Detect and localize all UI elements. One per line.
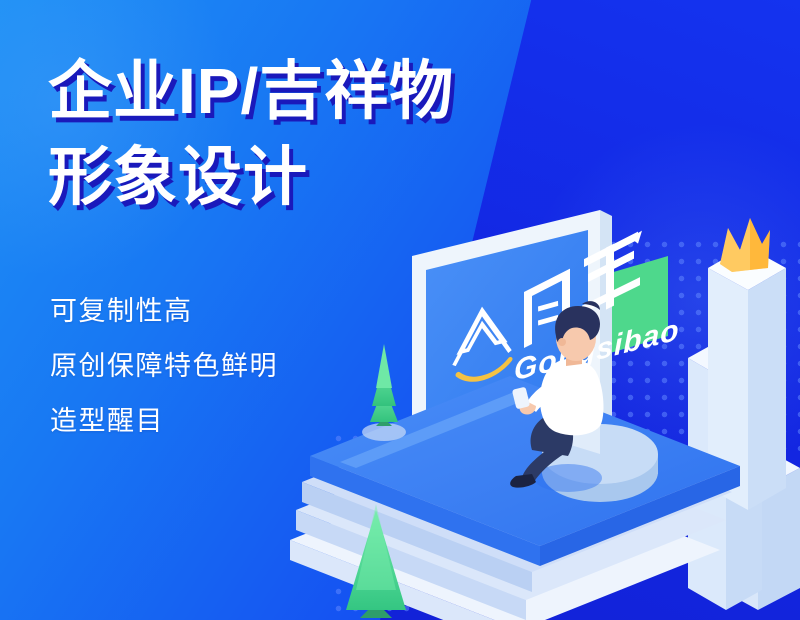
- subtitle-line-2: 原创保障特色鲜明: [50, 353, 278, 380]
- headline-line-2: 形象设计: [48, 138, 668, 216]
- person-ear: [558, 338, 566, 346]
- subtitle-line-3: 造型醒目: [50, 408, 278, 435]
- headline-line-1: 企业IP/吉祥物: [48, 52, 668, 130]
- page-title: 企业IP/吉祥物 形象设计: [48, 52, 668, 216]
- crown-icon: [720, 218, 770, 272]
- tree-small: [362, 344, 406, 441]
- subtitle-list: 可复制性高 原创保障特色鲜明 造型醒目: [50, 298, 278, 463]
- poster-canvas: 企业IP/吉祥物 形象设计 可复制性高 原创保障特色鲜明 造型醒目: [0, 0, 800, 620]
- subtitle-line-1: 可复制性高: [50, 298, 278, 325]
- illustration-svg: Gongsibao: [300, 210, 800, 620]
- illustration: Gongsibao: [300, 210, 800, 620]
